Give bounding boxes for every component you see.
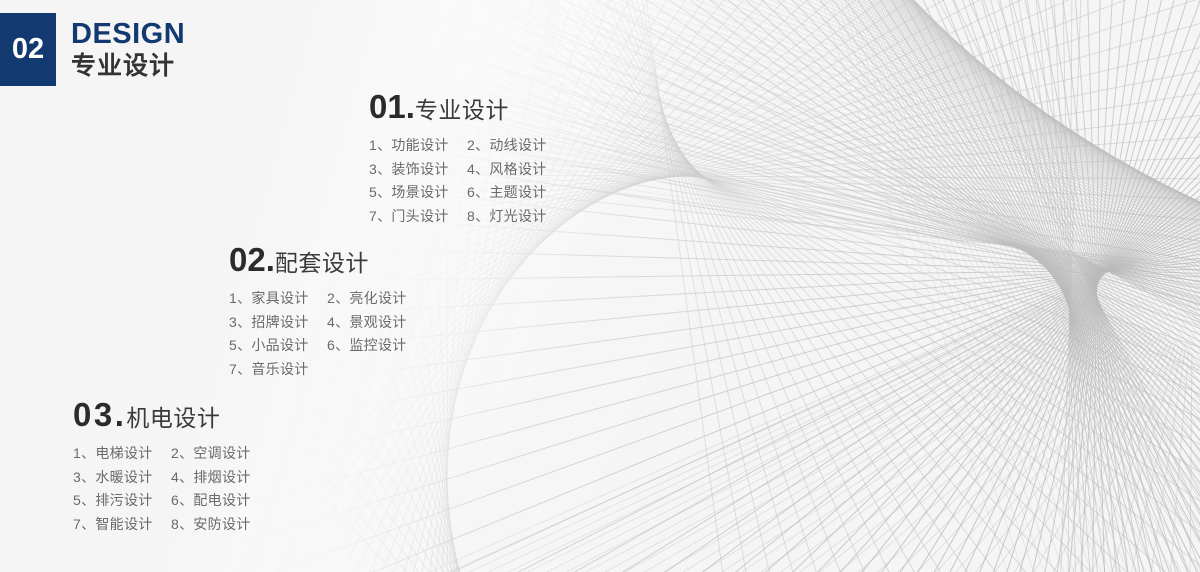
block-title: 配套设计 [275, 252, 369, 275]
block-number: 02. [229, 243, 275, 276]
item-row: 1、功能设计 2、动线设计 [369, 134, 547, 158]
list-item: 2、空调设计 [171, 442, 251, 466]
block-heading: 02. 配套设计 [229, 243, 407, 276]
list-item: 6、主题设计 [467, 181, 547, 205]
block-title: 专业设计 [415, 99, 509, 122]
list-item: 7、门头设计 [369, 205, 467, 229]
header-title-group: DESIGN 专业设计 [71, 13, 185, 86]
item-row: 3、招牌设计 4、景观设计 [229, 311, 407, 335]
list-item: 7、音乐设计 [229, 358, 327, 382]
content-block-02: 02. 配套设计 1、家具设计 2、亮化设计 3、招牌设计 4、景观设计 5、小… [229, 243, 407, 381]
header-title-chinese: 专业设计 [71, 52, 185, 80]
list-item: 3、招牌设计 [229, 311, 327, 335]
block-heading: 01. 专业设计 [369, 90, 547, 123]
block-number: 03. [73, 398, 126, 431]
block-item-rows: 1、电梯设计 2、空调设计 3、水暖设计 4、排烟设计 5、排污设计 6、配电设… [73, 442, 251, 536]
list-item: 6、配电设计 [171, 489, 251, 513]
header-title-english: DESIGN [71, 19, 185, 50]
list-item: 8、安防设计 [171, 513, 251, 537]
section-number-text: 02 [12, 35, 44, 64]
list-item: 3、装饰设计 [369, 158, 467, 182]
block-item-rows: 1、家具设计 2、亮化设计 3、招牌设计 4、景观设计 5、小品设计 6、监控设… [229, 287, 407, 381]
list-item: 1、功能设计 [369, 134, 467, 158]
content-block-01: 01. 专业设计 1、功能设计 2、动线设计 3、装饰设计 4、风格设计 5、场… [369, 90, 547, 228]
section-number-badge: 02 [0, 13, 56, 86]
item-row: 7、音乐设计 [229, 358, 407, 382]
list-item: 1、家具设计 [229, 287, 327, 311]
list-item: 2、亮化设计 [327, 287, 407, 311]
list-item: 5、小品设计 [229, 334, 327, 358]
list-item: 5、场景设计 [369, 181, 467, 205]
item-row: 3、水暖设计 4、排烟设计 [73, 466, 251, 490]
item-row: 1、电梯设计 2、空调设计 [73, 442, 251, 466]
item-row: 5、场景设计 6、主题设计 [369, 181, 547, 205]
item-row: 5、小品设计 6、监控设计 [229, 334, 407, 358]
item-row: 5、排污设计 6、配电设计 [73, 489, 251, 513]
slide-header: 02 DESIGN 专业设计 [0, 13, 185, 86]
list-item: 4、风格设计 [467, 158, 547, 182]
list-item: 4、排烟设计 [171, 466, 251, 490]
list-item: 7、智能设计 [73, 513, 171, 537]
list-item: 4、景观设计 [327, 311, 407, 335]
slide-canvas: 02 DESIGN 专业设计 01. 专业设计 1、功能设计 2、动线设计 3、… [0, 0, 1200, 572]
list-item: 2、动线设计 [467, 134, 547, 158]
item-row: 7、门头设计 8、灯光设计 [369, 205, 547, 229]
list-item: 3、水暖设计 [73, 466, 171, 490]
block-number: 01. [369, 90, 415, 123]
list-item: 5、排污设计 [73, 489, 171, 513]
item-row: 1、家具设计 2、亮化设计 [229, 287, 407, 311]
item-row: 3、装饰设计 4、风格设计 [369, 158, 547, 182]
block-heading: 03. 机电设计 [73, 398, 251, 431]
list-item: 8、灯光设计 [467, 205, 547, 229]
item-row: 7、智能设计 8、安防设计 [73, 513, 251, 537]
content-block-03: 03. 机电设计 1、电梯设计 2、空调设计 3、水暖设计 4、排烟设计 5、排… [73, 398, 251, 536]
block-item-rows: 1、功能设计 2、动线设计 3、装饰设计 4、风格设计 5、场景设计 6、主题设… [369, 134, 547, 228]
list-item: 1、电梯设计 [73, 442, 171, 466]
list-item: 6、监控设计 [327, 334, 407, 358]
block-title: 机电设计 [126, 407, 220, 430]
